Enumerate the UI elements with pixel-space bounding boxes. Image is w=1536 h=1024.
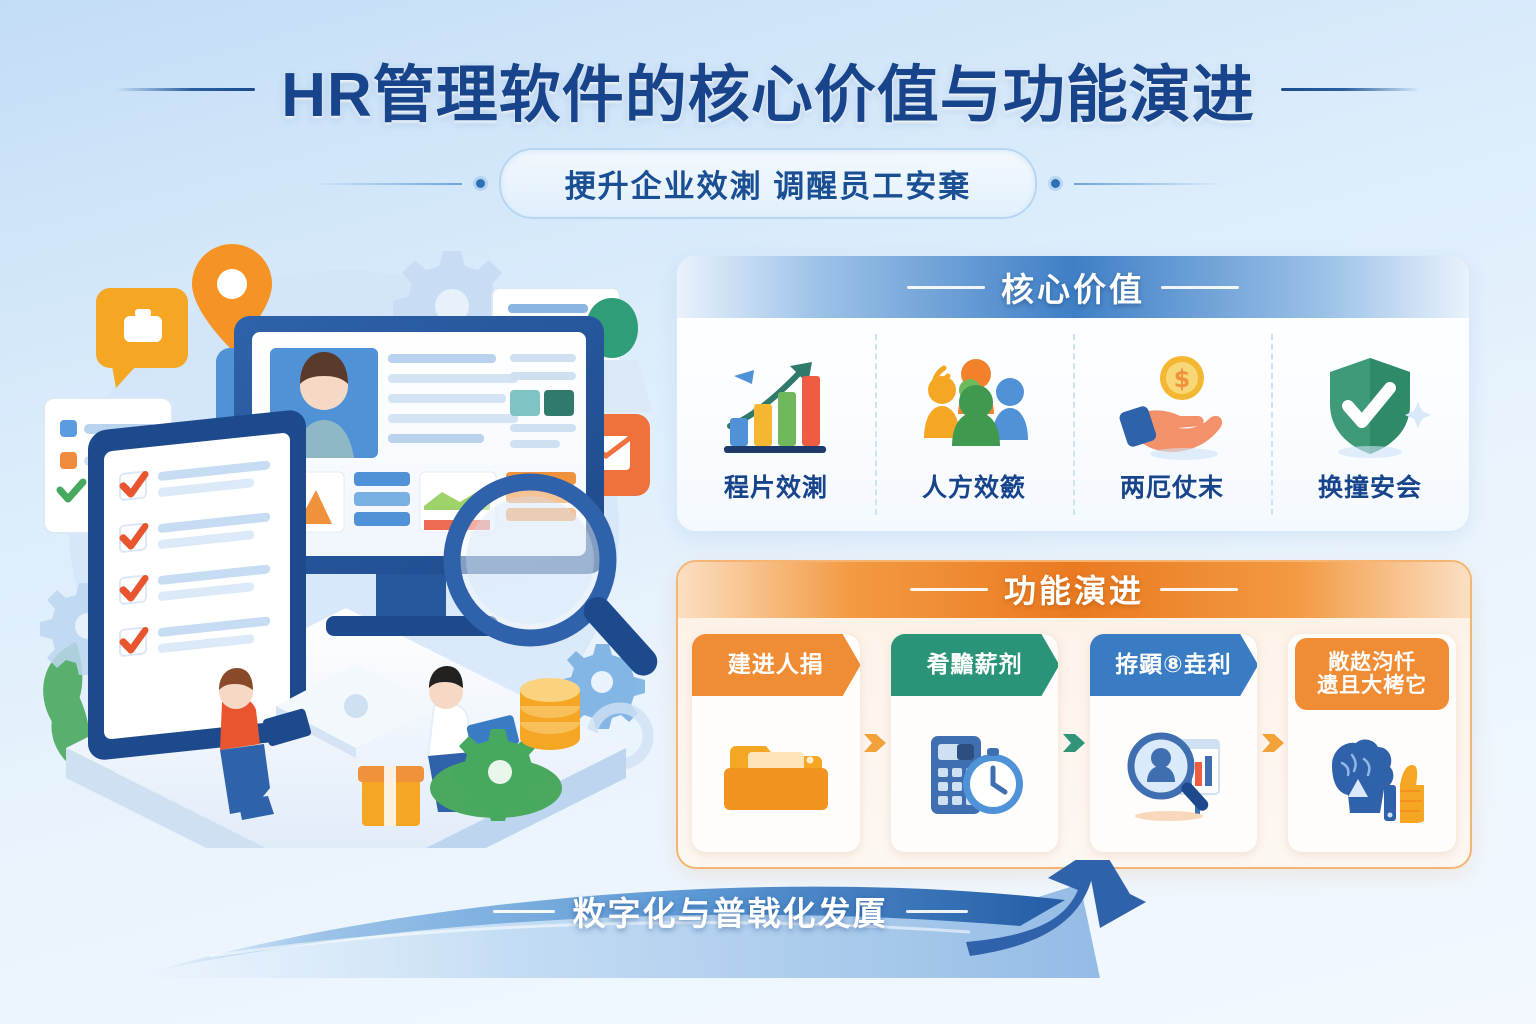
evolution-stage-card[interactable]: 拵顕⑧垚利 — [1090, 634, 1258, 852]
core-value-label: 换撞安会 — [1318, 468, 1422, 504]
core-value-label: 两厄仗末 — [1120, 468, 1224, 504]
page-title: HR管理软件的核心价值与功能演进 — [281, 44, 1255, 134]
core-value-label: 人方效籨 — [922, 468, 1026, 504]
stage-label-line1: 敞赼汮忏 — [1328, 651, 1416, 674]
stage-label: 肴黵薪剂 — [927, 652, 1023, 677]
evolution-stage-card[interactable]: 敞赼汮忏 遗且大栲它 — [1288, 634, 1456, 852]
page-subtitle: 挭升企业效溂 调醒员工安棄 — [499, 148, 1038, 219]
arrow-right-diamond-icon — [860, 634, 891, 852]
subtitle-line-right — [1074, 183, 1224, 185]
core-header-rule-right — [1161, 286, 1239, 289]
bar-chart-growth-icon — [716, 352, 836, 460]
stage-label: 拵顕⑧垚利 — [1115, 652, 1231, 677]
tablet-checklist-icon — [88, 409, 306, 762]
evolution-stage-card[interactable]: 建进人捐 — [692, 634, 860, 852]
brain-thumbsup-icon — [1288, 710, 1456, 852]
subtitle-line-left — [312, 183, 462, 185]
core-value-item[interactable]: 换撞安会 — [1271, 318, 1469, 531]
evolution-stage-card[interactable]: 肴黵薪剂 — [891, 634, 1059, 852]
evolution-stage-row: 建进人捐 肴黵薪剂 — [692, 634, 1456, 852]
infographic-canvas: HR管理软件的核心价值与功能演进 挭升企业效溂 调醒员工安棄 — [0, 0, 1536, 1024]
subtitle-row: 挭升企业效溂 调醒员工安棄 — [0, 148, 1536, 219]
subtitle-dot-right — [1051, 179, 1060, 188]
stage-banner: 敞赼汮忏 遗且大栲它 — [1295, 638, 1449, 710]
title-rule-right — [1281, 88, 1421, 91]
arrow-right-diamond-icon — [1058, 634, 1089, 852]
title-rule-left — [115, 88, 255, 91]
function-evolution-panel: 功能演进 建进人捐 — [676, 560, 1472, 869]
coins-stack-icon — [520, 678, 580, 750]
arrow-right-diamond-icon — [1257, 634, 1288, 852]
stage-label-line2: 遗且大栲它 — [1317, 674, 1427, 697]
subtitle-dot-left — [476, 179, 485, 188]
calculator-clock-icon — [891, 696, 1059, 852]
core-value-panel: 核心价值 程片效溂 — [676, 255, 1470, 532]
page-title-row: HR管理软件的核心价值与功能演进 — [0, 48, 1536, 130]
core-value-header: 核心价值 — [677, 256, 1469, 318]
core-value-item[interactable]: 人方效籨 — [875, 318, 1073, 531]
folder-icon — [692, 696, 860, 852]
core-value-grid: 程片效溂 — [677, 318, 1469, 531]
stage-banner: 建进人捐 — [692, 634, 860, 696]
stage-label: 建进人捐 — [728, 652, 824, 677]
magnifier-chart-icon — [1090, 696, 1258, 852]
hand-coin-icon: $ — [1112, 352, 1232, 460]
function-evolution-header: 功能演进 — [676, 560, 1472, 618]
core-value-heading: 核心价值 — [1001, 263, 1145, 311]
core-value-item[interactable]: $ 两厄仗末 — [1073, 318, 1271, 531]
rising-arrow-ribbon-icon — [90, 860, 1470, 1010]
svg-text:$: $ — [1174, 365, 1191, 393]
evo-header-rule-right — [1160, 588, 1238, 591]
core-value-item[interactable]: 程片效溂 — [677, 318, 875, 531]
function-evolution-heading: 功能演进 — [1004, 566, 1144, 612]
core-header-rule-left — [907, 286, 985, 289]
stage-banner: 拵顕⑧垚利 — [1090, 634, 1258, 696]
shield-check-icon — [1310, 352, 1430, 460]
gift-box-icon — [358, 766, 424, 826]
evo-header-rule-left — [910, 588, 988, 591]
core-value-label: 程片效溂 — [724, 468, 828, 504]
hr-dashboard-isometric-illustration — [26, 228, 666, 848]
people-group-icon — [914, 352, 1034, 460]
stage-banner: 肴黵薪剂 — [891, 634, 1059, 696]
